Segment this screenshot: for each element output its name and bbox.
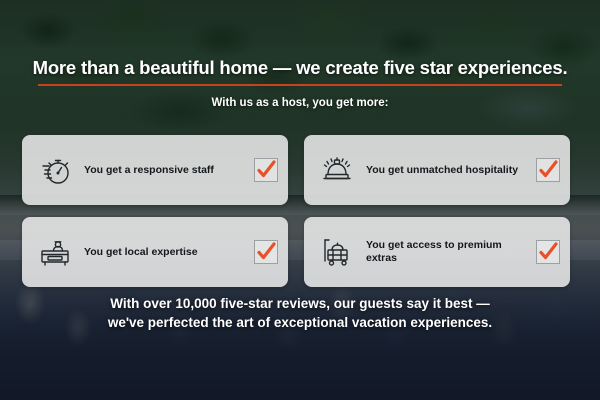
slide-content: More than a beautiful home — we create f… <box>0 0 600 400</box>
benefit-card-grid: You get a responsive staff <box>22 135 570 287</box>
benefit-checkbox[interactable] <box>254 240 278 264</box>
page-title: More than a beautiful home — we create f… <box>0 57 600 79</box>
benefit-card-local-expertise[interactable]: You get local expertise <box>22 217 288 287</box>
footer-line1-before: With over <box>110 296 175 311</box>
luggage-cart-icon <box>318 233 356 271</box>
footer-line-2: we've perfected the art of exceptional v… <box>0 313 600 332</box>
benefit-checkbox[interactable] <box>254 158 278 182</box>
footer-line1-after: five-star reviews, our guests say it bes… <box>217 296 490 311</box>
review-count: 10,000 <box>175 296 216 311</box>
benefit-card-label: You get local expertise <box>74 246 254 259</box>
benefit-card-responsive-staff[interactable]: You get a responsive staff <box>22 135 288 205</box>
benefit-card-unmatched-hospitality[interactable]: You get unmatched hospitality <box>304 135 570 205</box>
footer-line-1: With over 10,000 five-star reviews, our … <box>0 294 600 313</box>
benefit-card-label: You get unmatched hospitality <box>356 164 536 177</box>
service-bell-icon <box>318 151 356 189</box>
benefit-card-label: You get access to premium extras <box>356 239 536 264</box>
benefit-checkbox[interactable] <box>536 158 560 182</box>
benefit-card-label: You get a responsive staff <box>74 164 254 177</box>
slide-root: More than a beautiful home — we create f… <box>0 0 600 400</box>
benefit-checkbox[interactable] <box>536 240 560 264</box>
title-accent-rule <box>38 84 562 86</box>
concierge-desk-icon <box>36 233 74 271</box>
page-subtitle: With us as a host, you get more: <box>0 97 600 109</box>
benefit-card-premium-extras[interactable]: You get access to premium extras <box>304 217 570 287</box>
stopwatch-icon <box>36 151 74 189</box>
footer-statement: With over 10,000 five-star reviews, our … <box>0 294 600 332</box>
